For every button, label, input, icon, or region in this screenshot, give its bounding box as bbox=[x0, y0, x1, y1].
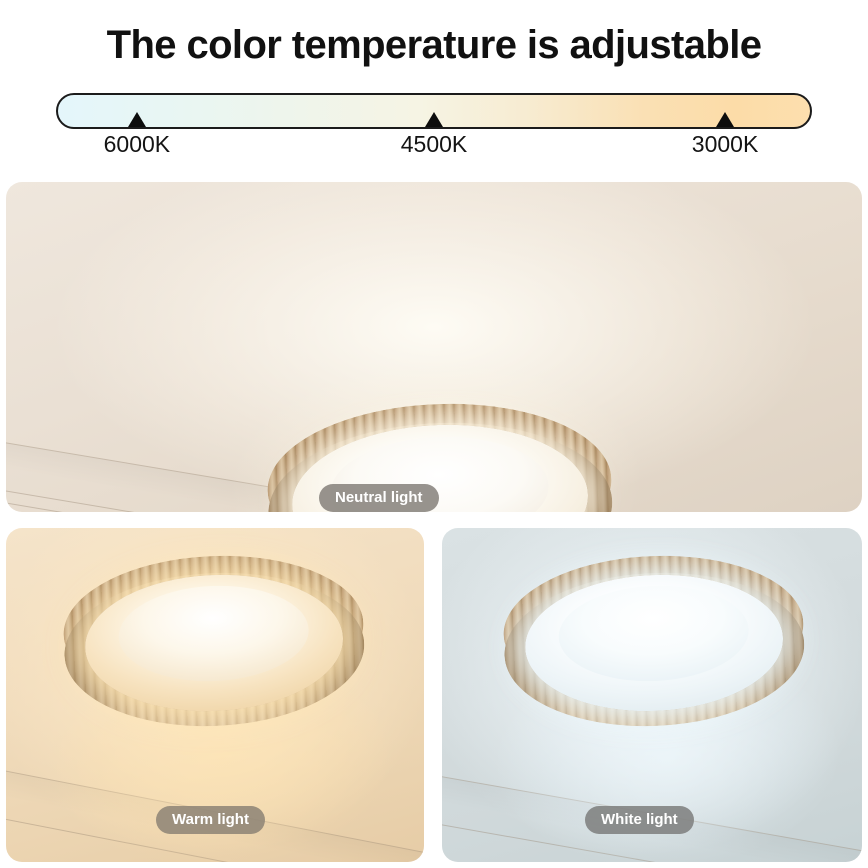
tick-marker-4500k bbox=[425, 112, 443, 127]
tick-marker-6000k bbox=[128, 112, 146, 127]
photo-panel-white[interactable]: White light bbox=[442, 528, 862, 862]
ceiling-lamp-warm[interactable] bbox=[60, 550, 367, 733]
photo-panel-warm[interactable]: Warm light bbox=[6, 528, 424, 862]
photo-panel-neutral[interactable]: Neutral light bbox=[6, 182, 862, 512]
tick-label-6000k: 6000K bbox=[77, 131, 197, 158]
lamp-diffuser-core bbox=[556, 581, 751, 684]
tick-marker-3000k bbox=[716, 112, 734, 127]
badge-warm-light: Warm light bbox=[156, 806, 265, 834]
tick-label-3000k: 3000K bbox=[665, 131, 785, 158]
badge-white-light: White light bbox=[585, 806, 694, 834]
ceiling-lamp-white[interactable] bbox=[500, 550, 807, 733]
tick-label-4500k: 4500K bbox=[374, 131, 494, 158]
color-temperature-scale: 6000K 4500K 3000K bbox=[56, 93, 812, 129]
page-title: The color temperature is adjustable bbox=[0, 20, 868, 70]
lamp-diffuser-core bbox=[116, 581, 311, 684]
ceiling-lamp-neutral[interactable] bbox=[265, 397, 616, 512]
badge-neutral-light: Neutral light bbox=[319, 484, 439, 512]
